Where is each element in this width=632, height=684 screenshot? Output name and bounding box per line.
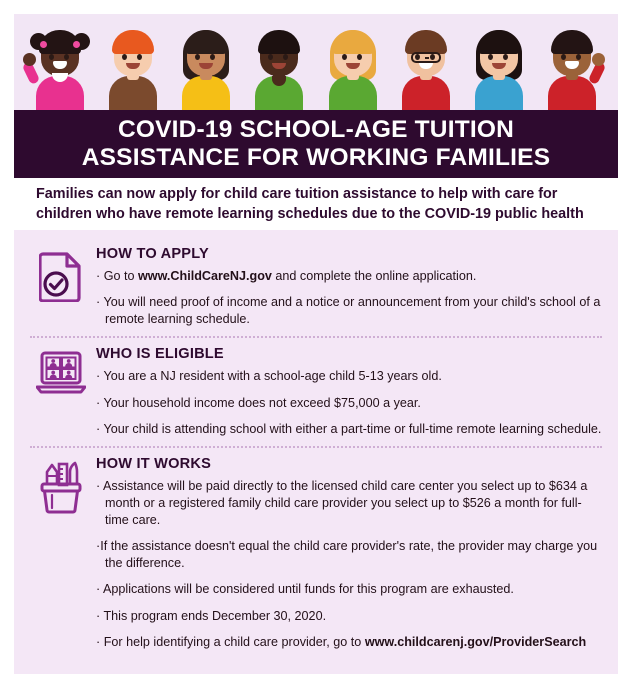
link-text[interactable]: www.childcarenj.gov/ProviderSearch xyxy=(365,635,586,649)
bullet-how-it-works-3: · Applications will be considered until … xyxy=(96,581,602,598)
eye-left xyxy=(49,54,54,60)
section-text-who-is-eligible: WHO IS ELIGIBLE· You are a NJ resident w… xyxy=(92,346,602,439)
bullet-who-is-eligible-2: · Your household income does not exceed … xyxy=(96,395,602,412)
section-title-who-is-eligible: WHO IS ELIGIBLE xyxy=(96,346,602,362)
page-title: COVID-19 SCHOOL-AGE TUITION ASSISTANCE F… xyxy=(82,116,551,173)
bullet-how-to-apply-1: · Go to www.ChildCareNJ.gov and complete… xyxy=(96,268,602,285)
title-banner: COVID-19 SCHOOL-AGE TUITION ASSISTANCE F… xyxy=(14,110,618,178)
child-5-blonde-girl xyxy=(321,22,385,110)
eye-right xyxy=(357,54,362,60)
child-3-long-hair-girl xyxy=(174,22,238,110)
hair-top xyxy=(185,30,227,54)
hair-top xyxy=(478,30,520,54)
hair-top xyxy=(258,30,300,54)
child-2-red-hair-boy xyxy=(101,22,165,110)
section-who-is-eligible: WHO IS ELIGIBLE· You are a NJ resident w… xyxy=(30,340,602,441)
hair-top xyxy=(551,30,593,54)
eye-right xyxy=(64,54,69,60)
document-check-icon xyxy=(39,250,83,302)
bullet-how-it-works-2: ·If the assistance doesn't equal the chi… xyxy=(96,538,602,572)
hair-tie-left xyxy=(40,41,47,48)
subtitle-band: Families can now apply for child care tu… xyxy=(14,178,618,230)
children-row xyxy=(14,14,618,110)
torso xyxy=(329,76,377,110)
section-how-it-works: HOW IT WORKS· Assistance will be paid di… xyxy=(30,450,602,655)
torso xyxy=(109,76,157,110)
waving-hand xyxy=(592,53,605,66)
section-text-how-it-works: HOW IT WORKS· Assistance will be paid di… xyxy=(92,456,602,653)
bullet-who-is-eligible-1: · You are a NJ resident with a school-ag… xyxy=(96,368,602,385)
title-line-1: COVID-19 SCHOOL-AGE TUITION xyxy=(118,116,514,143)
hair-top xyxy=(405,30,447,54)
glasses-icon xyxy=(411,52,441,63)
infographic-page: COVID-19 SCHOOL-AGE TUITION ASSISTANCE F… xyxy=(0,0,632,684)
bullet-how-to-apply-2: · You will need proof of income and a no… xyxy=(96,294,602,328)
eye-right xyxy=(503,54,508,60)
eye-left xyxy=(342,54,347,60)
bullet-how-it-works-1: · Assistance will be paid directly to th… xyxy=(96,478,602,529)
torso xyxy=(475,76,523,110)
bullet-how-it-works-4: · This program ends December 30, 2020. xyxy=(96,608,602,625)
hero-illustration xyxy=(14,14,618,110)
waving-hand xyxy=(23,53,36,66)
link-text[interactable]: www.ChildCareNJ.gov xyxy=(138,269,272,283)
eye-left xyxy=(488,54,493,60)
child-6-glasses-boy xyxy=(394,22,458,110)
section-title-how-it-works: HOW IT WORKS xyxy=(96,456,602,472)
section-divider-1 xyxy=(30,336,602,338)
hair-tie-right xyxy=(73,41,80,48)
section-text-how-to-apply: HOW TO APPLY· Go to www.ChildCareNJ.gov … xyxy=(92,246,602,330)
section-title-how-to-apply: HOW TO APPLY xyxy=(96,246,602,262)
torso xyxy=(548,76,596,110)
eye-right xyxy=(576,54,581,60)
eye-left xyxy=(561,54,566,60)
pencil-cup-icon xyxy=(38,460,84,514)
child-7-bob-hair-girl xyxy=(467,22,531,110)
child-8-waving-boy xyxy=(540,22,604,110)
child-1-waving-girl xyxy=(28,22,92,110)
bullet-who-is-eligible-3: · Your child is attending school with ei… xyxy=(96,421,602,438)
hair-top xyxy=(112,30,154,54)
torso xyxy=(182,76,230,110)
section-how-to-apply: HOW TO APPLY· Go to www.ChildCareNJ.gov … xyxy=(30,240,602,332)
section-divider-2 xyxy=(30,446,602,448)
content-panel: HOW TO APPLY· Go to www.ChildCareNJ.gov … xyxy=(14,230,618,674)
hair-top xyxy=(332,30,374,54)
child-4-dark-skin-boy xyxy=(247,22,311,110)
bullet-how-it-works-5: · For help identifying a child care prov… xyxy=(96,634,602,651)
laptop-video-call-icon-wrap xyxy=(30,346,92,396)
title-line-2: ASSISTANCE FOR WORKING FAMILIES xyxy=(82,144,551,171)
laptop-video-call-icon xyxy=(36,350,86,396)
document-check-icon-wrap xyxy=(30,246,92,302)
torso xyxy=(402,76,450,110)
pencil-cup-icon-wrap xyxy=(30,456,92,514)
